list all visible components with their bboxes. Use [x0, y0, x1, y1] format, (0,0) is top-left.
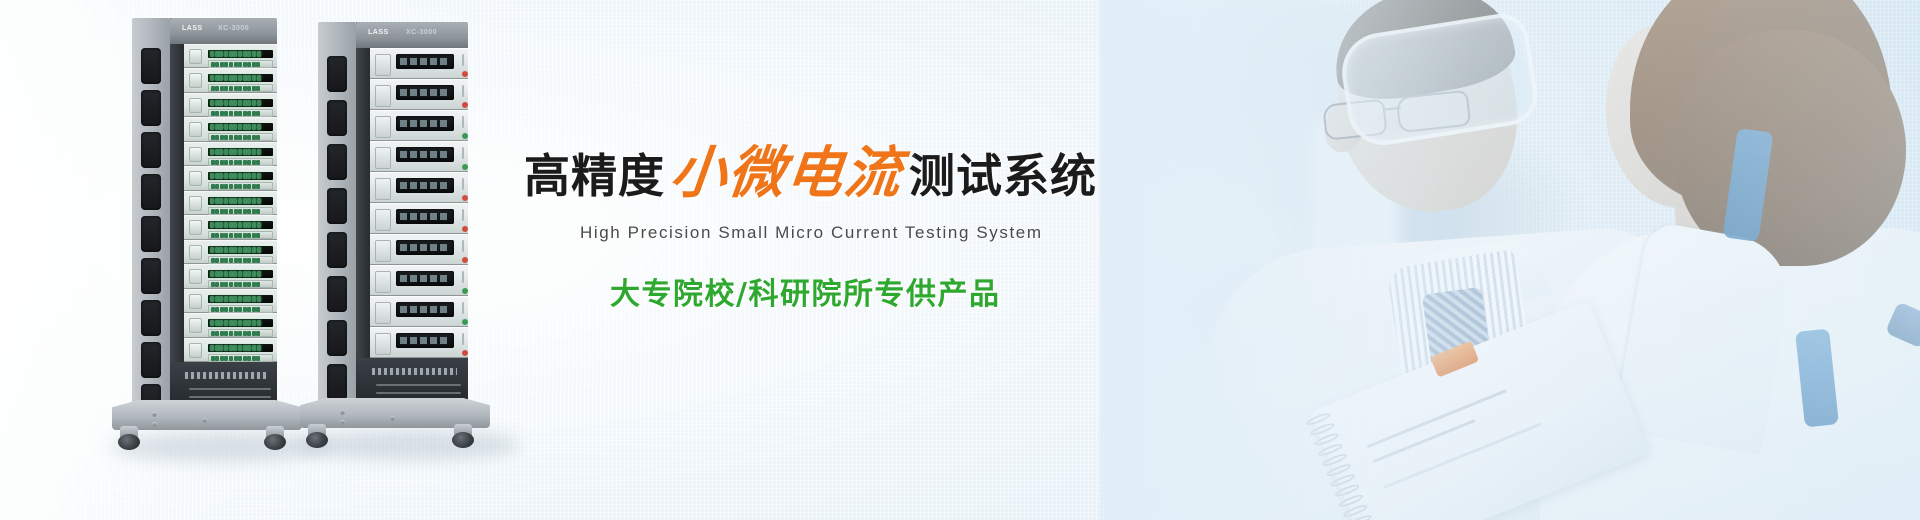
rack-b-caster-left: [304, 424, 330, 448]
lab-researchers-photo: [1100, 0, 1920, 520]
banner-headline: 高精度 小微电流 测试系统: [524, 128, 1044, 209]
rail-vent-slot: [327, 276, 347, 312]
product-banner: LASS XC-3000 LASS XC-3000: [0, 0, 1920, 520]
headline-prefix: 高精度: [524, 140, 665, 206]
rack-a-base: [112, 380, 302, 450]
rack-unit-module: [184, 264, 277, 288]
rail-vent-slot: [327, 188, 347, 224]
rack-unit-module: [184, 117, 277, 141]
rack-instrument-module: [370, 265, 468, 296]
rack-instrument-module: [370, 327, 468, 358]
rack-instrument-module: [370, 110, 468, 141]
headline-suffix: 测试系统: [909, 140, 1097, 206]
rack-instrument-module: [370, 296, 468, 327]
rack-a-brand-logo: LASS: [182, 25, 203, 32]
rack-unit-module: [184, 68, 277, 92]
rack-a-top-panel: LASS XC-3000: [170, 18, 277, 44]
rack-instrument-module: [370, 48, 468, 79]
rack-b-top-panel: LASS XC-3000: [356, 22, 468, 48]
rack-unit-module: [184, 93, 277, 117]
instrument-rack-b: LASS XC-3000: [318, 22, 468, 414]
rack-a-side-rail: [132, 18, 170, 418]
rack-unit-module: [184, 240, 277, 264]
rail-vent-slot: [141, 48, 161, 84]
rack-unit-module: [184, 142, 277, 166]
rack-unit-module: [184, 313, 277, 337]
rack-b-caster-right: [450, 424, 476, 448]
rail-vent-slot: [327, 320, 347, 356]
banner-subtitle-english: High Precision Small Micro Current Testi…: [580, 223, 1044, 243]
rail-vent-slot: [327, 144, 347, 180]
rack-instrument-module: [370, 172, 468, 203]
instrument-rack-a: LASS XC-3000: [132, 18, 277, 418]
rack-instrument-module: [370, 234, 468, 265]
rack-b-model-label: XC-3000: [406, 29, 437, 36]
rail-vent-slot: [141, 132, 161, 168]
photo-left-fade: [1100, 0, 1920, 520]
rack-a-model-label: XC-3000: [218, 25, 249, 32]
rack-unit-module: [184, 44, 277, 68]
rack-unit-module: [184, 338, 277, 362]
rail-vent-slot: [327, 56, 347, 92]
rail-vent-slot: [141, 90, 161, 126]
rack-instrument-module: [370, 79, 468, 110]
headline-highlight: 小微电流: [667, 128, 908, 209]
rack-b-brand-logo: LASS: [368, 29, 389, 36]
rack-unit-module: [184, 215, 277, 239]
rack-a-caster-left: [116, 426, 142, 450]
rail-vent-slot: [327, 232, 347, 268]
rack-instrument-module: [370, 203, 468, 234]
banner-tagline: 大专院校/科研院所专供产品: [610, 269, 1044, 313]
rack-unit-module: [184, 289, 277, 313]
rail-vent-slot: [141, 342, 161, 378]
rack-b-base: [300, 378, 490, 448]
rack-b-unit-bay: [370, 48, 468, 358]
rack-unit-module: [184, 191, 277, 215]
rack-a-caster-right: [262, 426, 288, 450]
rack-unit-module: [184, 166, 277, 190]
rack-instrument-module: [370, 141, 468, 172]
rack-a-unit-bay: [184, 44, 277, 362]
rail-vent-slot: [141, 300, 161, 336]
rail-vent-slot: [141, 258, 161, 294]
rack-b-side-rail: [318, 22, 356, 414]
rail-vent-slot: [141, 174, 161, 210]
rail-vent-slot: [141, 216, 161, 252]
banner-copy: 高精度 小微电流 测试系统 High Precision Small Micro…: [524, 128, 1044, 313]
rail-vent-slot: [327, 100, 347, 136]
